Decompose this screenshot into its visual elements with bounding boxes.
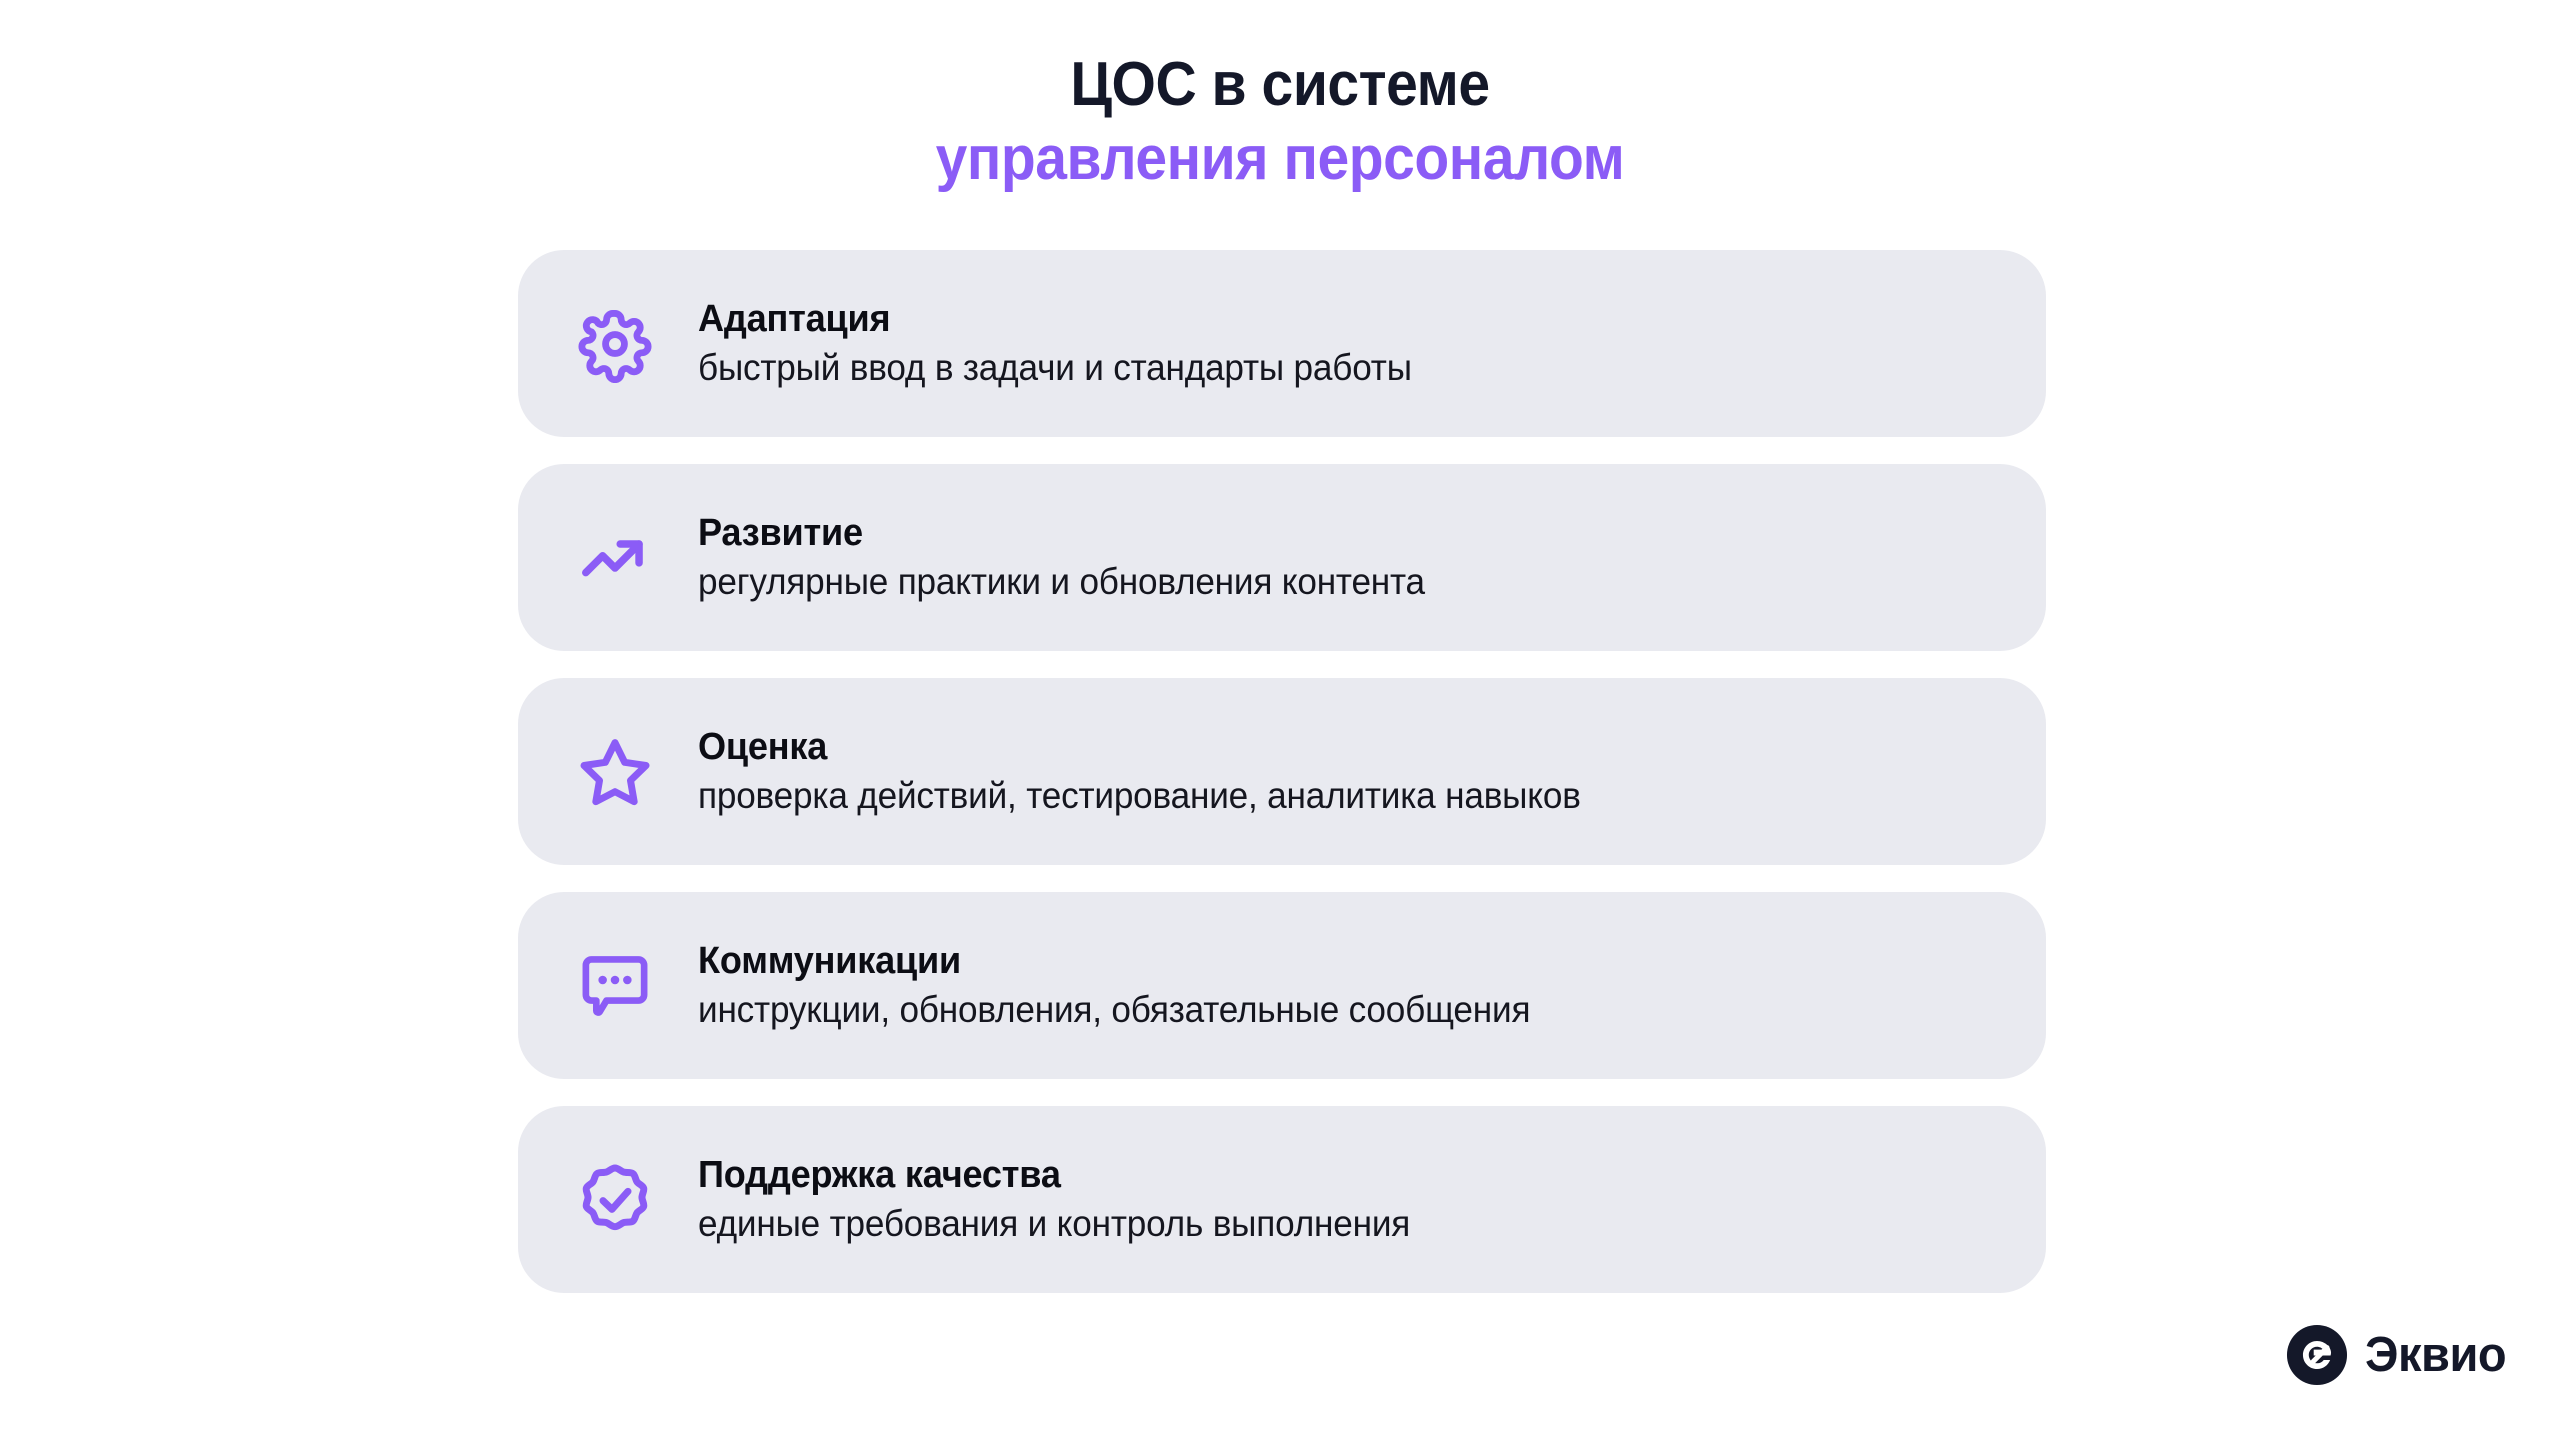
feature-card-title: Развитие <box>698 510 1425 557</box>
brand-logo-text: Эквио <box>2365 1327 2506 1383</box>
feature-card-communications: Коммуникации инструкции, обновления, обя… <box>518 892 2046 1079</box>
feature-card-text: Поддержка качества единые требования и к… <box>674 1150 1448 1249</box>
feature-card-list: Адаптация быстрый ввод в задачи и станда… <box>518 250 2046 1293</box>
feature-card-text: Развитие регулярные практики и обновлени… <box>674 508 1463 607</box>
feature-card-adaptation: Адаптация быстрый ввод в задачи и станда… <box>518 250 2046 437</box>
feature-card-description: быстрый ввод в задачи и стандарты работы <box>698 343 1412 393</box>
feature-card-title: Адаптация <box>698 296 1412 343</box>
brand-logo: Эквио <box>2286 1324 2512 1386</box>
page-title: ЦОС в системе управления персоналом <box>0 48 2560 196</box>
feature-card-title: Поддержка качества <box>698 1152 1410 1199</box>
feature-card-description: проверка действий, тестирование, аналити… <box>698 771 1581 821</box>
star-icon <box>556 717 674 827</box>
feature-card-text: Коммуникации инструкции, обновления, обя… <box>674 936 1574 1035</box>
chat-bubble-icon <box>556 931 674 1041</box>
feature-card-development: Развитие регулярные практики и обновлени… <box>518 464 2046 651</box>
feature-card-description: инструкции, обновления, обязательные соо… <box>698 985 1530 1035</box>
feature-card-title: Оценка <box>698 724 1581 771</box>
feature-card-description: единые требования и контроль выполнения <box>698 1199 1410 1249</box>
ekvio-circle-mark-icon <box>2286 1324 2348 1386</box>
title-line-secondary: управления персоналом <box>102 122 2457 196</box>
trending-up-icon <box>556 503 674 613</box>
feature-card-title: Коммуникации <box>698 938 1530 985</box>
badge-check-icon <box>556 1145 674 1255</box>
feature-card-text: Оценка проверка действий, тестирование, … <box>674 722 1627 821</box>
feature-card-quality-support: Поддержка качества единые требования и к… <box>518 1106 2046 1293</box>
feature-card-assessment: Оценка проверка действий, тестирование, … <box>518 678 2046 865</box>
gear-icon <box>556 289 674 399</box>
feature-card-text: Адаптация быстрый ввод в задачи и станда… <box>674 294 1449 393</box>
title-line-primary: ЦОС в системе <box>102 48 2457 122</box>
feature-card-description: регулярные практики и обновления контент… <box>698 557 1425 607</box>
infographic-slide: ЦОС в системе управления персоналом Адап… <box>0 0 2560 1440</box>
